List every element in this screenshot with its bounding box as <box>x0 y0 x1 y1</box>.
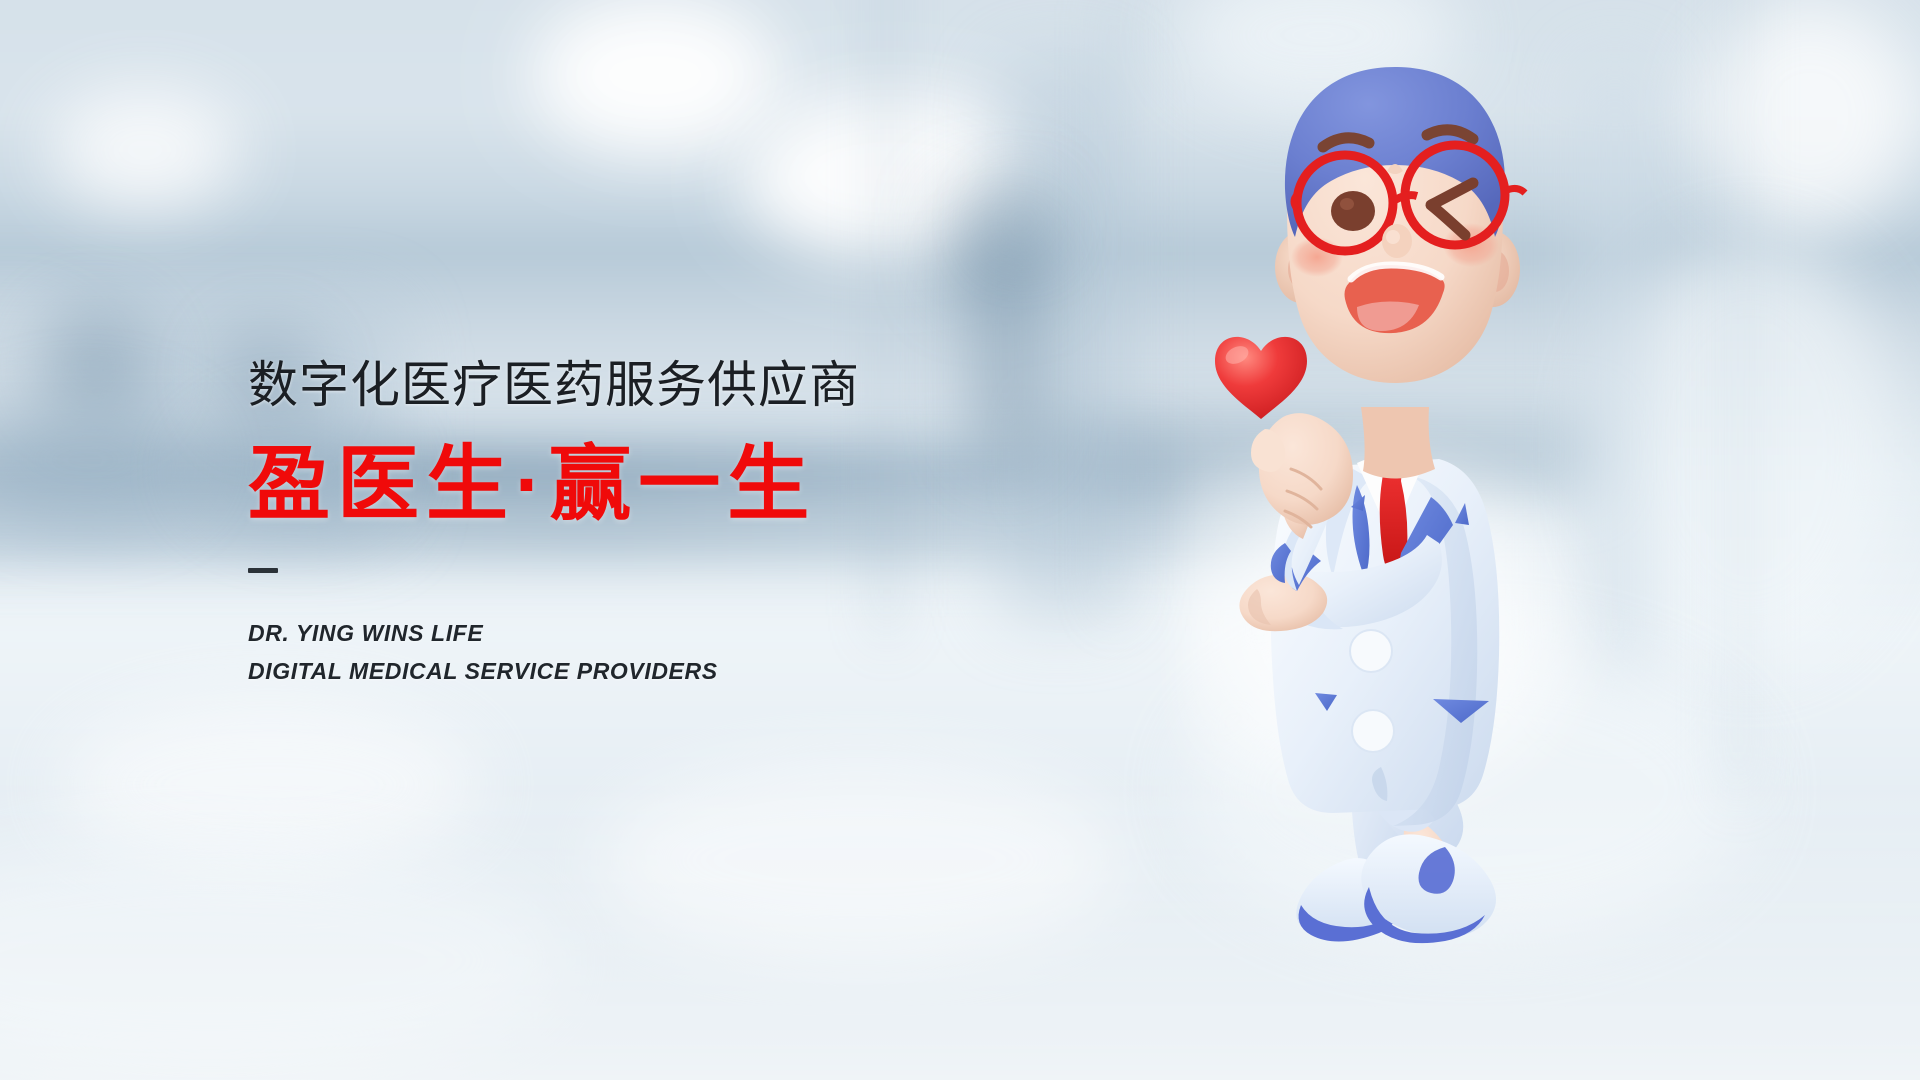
hero-banner: 数字化医疗医药服务供应商 盈医生·赢一生 DR. YING WINS LIFE … <box>0 0 1920 1080</box>
mascot-neck <box>1361 407 1435 479</box>
subtitle-english: DR. YING WINS LIFE DIGITAL MEDICAL SERVI… <box>248 615 860 691</box>
page-subtitle-chinese: 数字化医疗医药服务供应商 <box>248 360 860 410</box>
subtitle-line-2: DIGITAL MEDICAL SERVICE PROVIDERS <box>248 653 860 691</box>
hero-copy: 数字化医疗医药服务供应商 盈医生·赢一生 DR. YING WINS LIFE … <box>248 360 860 691</box>
subtitle-line-1: DR. YING WINS LIFE <box>248 615 860 653</box>
shoe-front <box>1361 834 1496 943</box>
divider-rule <box>248 568 278 573</box>
page-title: 盈医生·赢一生 <box>248 444 860 526</box>
mascot-head <box>1275 67 1525 383</box>
heart-icon <box>1215 337 1307 419</box>
finger-heart-hand <box>1251 413 1353 527</box>
mascot-doctor-illustration <box>1205 55 1625 1015</box>
eye-left-open <box>1331 191 1375 231</box>
